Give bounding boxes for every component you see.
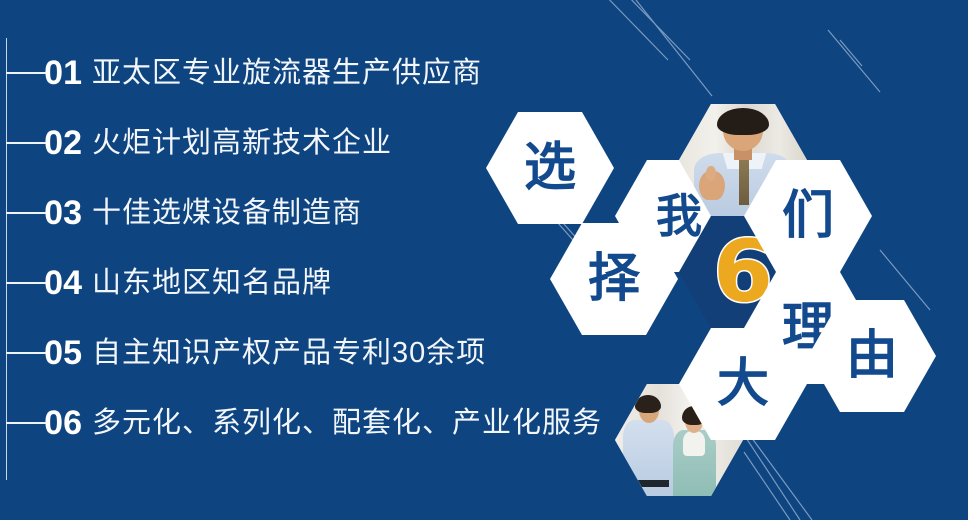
hex-glyph: 我 <box>656 193 702 239</box>
list-tick-icon <box>6 422 46 424</box>
list-item-text: 亚太区专业旋流器生产供应商 <box>92 59 482 88</box>
hex-glyph: 大 <box>717 358 769 410</box>
list-item-text: 自主知识产权产品专利30余项 <box>92 339 486 368</box>
list-tick-icon <box>6 352 46 354</box>
hex-glyph: 择 <box>588 253 640 305</box>
hex-xuan: 选 <box>486 112 614 224</box>
hexagon-headline-cluster: 选 择 我 <box>470 0 968 520</box>
list-item-text: 十佳选煤设备制造商 <box>92 199 362 228</box>
hex-glyph: 选 <box>524 142 576 194</box>
promo-banner: 01 亚太区专业旋流器生产供应商 02 火炬计划高新技术企业 03 十佳选煤设备… <box>0 0 968 520</box>
list-tick-icon <box>6 142 46 144</box>
list-tick-icon <box>6 282 46 284</box>
list-tick-icon <box>6 72 46 74</box>
hex-glyph: 们 <box>782 190 834 242</box>
list-item-text: 山东地区知名品牌 <box>92 269 332 298</box>
hex-glyph: 由 <box>846 330 898 382</box>
list-item-text: 火炬计划高新技术企业 <box>92 129 392 158</box>
list-tick-icon <box>6 212 46 214</box>
